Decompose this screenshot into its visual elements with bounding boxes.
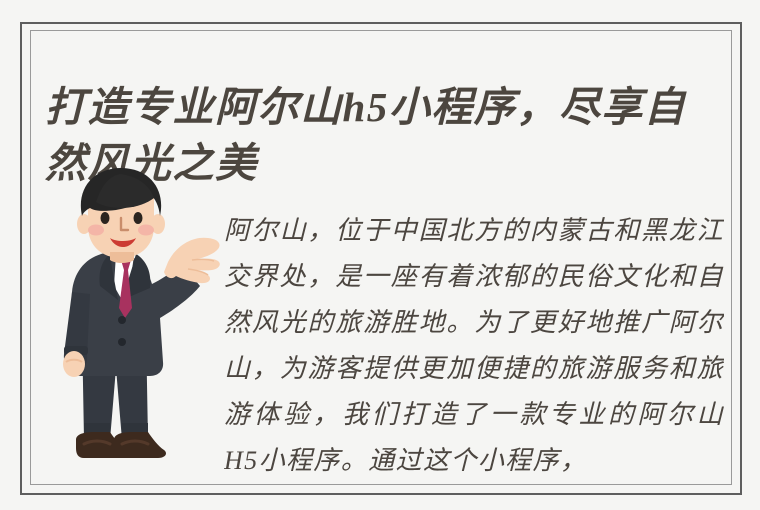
shoes (76, 432, 166, 458)
article-card: 打造专业阿尔山h5小程序，尽享自然风光之美 (0, 0, 760, 510)
head (77, 168, 165, 258)
illustration-businessman (42, 168, 224, 488)
article-body: 阿尔山，位于中国北方的内蒙古和黑龙江交界处，是一座有着浓郁的民俗文化和自然风光的… (224, 208, 724, 508)
left-hand (63, 351, 85, 377)
right-hand-open (164, 238, 220, 283)
